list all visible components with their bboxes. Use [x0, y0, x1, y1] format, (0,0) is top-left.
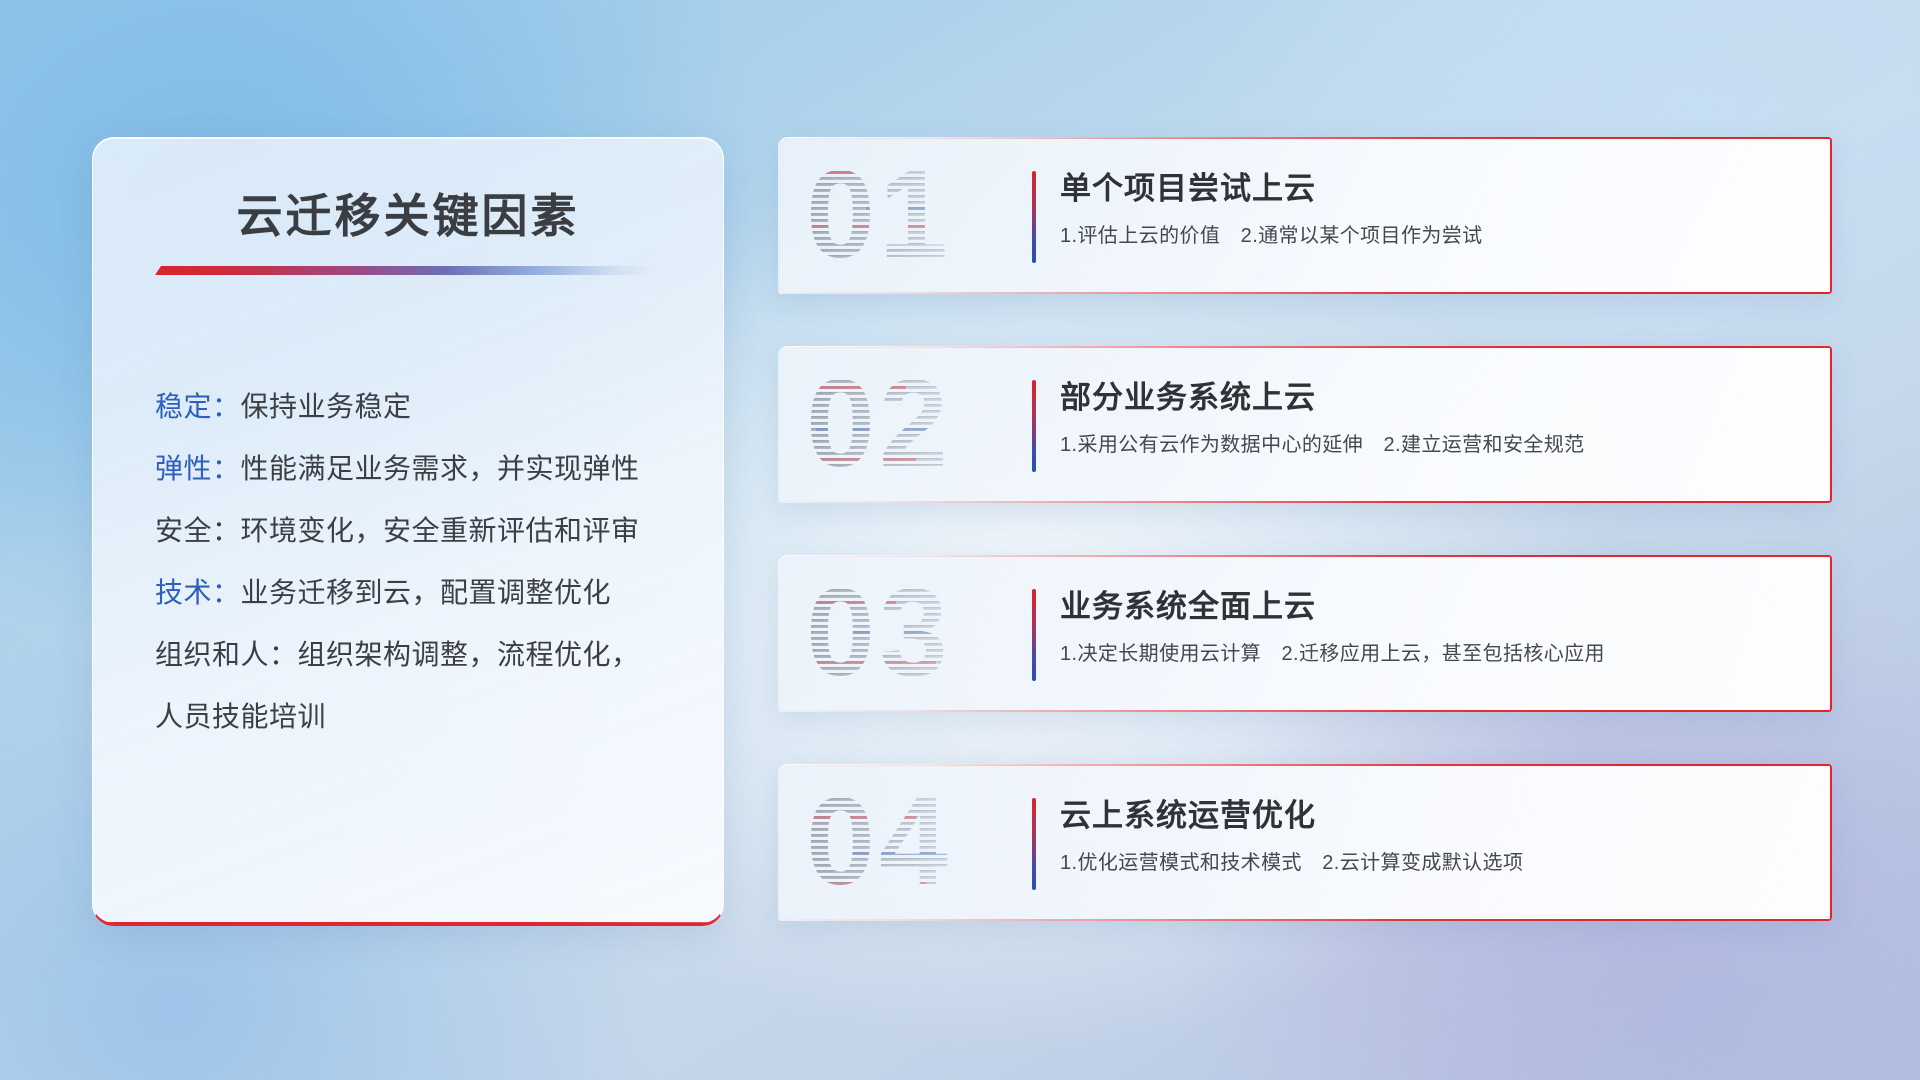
- list-item: 人员技能培训: [155, 686, 689, 748]
- factor-label: 组织和人：: [155, 639, 298, 670]
- card-accent-bar: [1032, 380, 1036, 472]
- factor-text: 组织架构调整，流程优化，: [298, 639, 640, 670]
- card-subtitle: 1.优化运营模式和技术模式 2.云计算变成默认选项: [1060, 848, 1808, 878]
- key-factors-panel: 云迁移关键因素 稳定：保持业务稳定 弹性：性能满足业务需求，并实现弹性 安全：环…: [92, 137, 724, 926]
- factor-text: 保持业务稳定: [241, 391, 412, 422]
- card-text-block: 单个项目尝试上云 1.评估上云的价值 2.通常以某个项目作为尝试: [1060, 167, 1808, 251]
- stage-number-03-icon: 03: [806, 571, 1016, 699]
- card-text-block: 云上系统运营优化 1.优化运营模式和技术模式 2.云计算变成默认选项: [1060, 794, 1808, 878]
- stage-card-01[interactable]: 01: [778, 137, 1832, 294]
- factor-label: 技术：: [155, 577, 241, 608]
- card-title: 业务系统全面上云: [1060, 585, 1808, 629]
- card-accent-bar: [1032, 589, 1036, 681]
- card-accent-bar: [1032, 171, 1036, 263]
- list-item: 稳定：保持业务稳定: [155, 376, 689, 438]
- factor-text: 人员技能培训: [155, 701, 326, 732]
- factor-label: 安全：: [155, 515, 241, 546]
- list-item: 组织和人：组织架构调整，流程优化，: [155, 624, 689, 686]
- stage-number-04-icon: 04: [806, 780, 1016, 908]
- card-text-block: 部分业务系统上云 1.采用公有云作为数据中心的延伸 2.建立运营和安全规范: [1060, 376, 1808, 460]
- title-underline-rule: [155, 266, 655, 275]
- card-subtitle: 1.评估上云的价值 2.通常以某个项目作为尝试: [1060, 221, 1808, 251]
- stage-number-01-icon: 01: [806, 153, 1016, 281]
- card-title: 部分业务系统上云: [1060, 376, 1808, 420]
- card-subtitle: 1.采用公有云作为数据中心的延伸 2.建立运营和安全规范: [1060, 430, 1808, 460]
- factor-text: 性能满足业务需求，并实现弹性: [241, 453, 640, 484]
- list-item: 技术：业务迁移到云，配置调整优化: [155, 562, 689, 624]
- page-title: 云迁移关键因素: [93, 180, 723, 246]
- card-title: 单个项目尝试上云: [1060, 167, 1808, 211]
- stage-card-03[interactable]: 03: [778, 555, 1832, 712]
- list-item: 弹性：性能满足业务需求，并实现弹性: [155, 438, 689, 500]
- slide-stage: 云迁移关键因素 稳定：保持业务稳定 弹性：性能满足业务需求，并实现弹性 安全：环…: [0, 0, 1920, 1080]
- factor-label: 弹性：: [155, 453, 241, 484]
- stage-number-02-icon: 02: [806, 362, 1016, 490]
- card-accent-bar: [1032, 798, 1036, 890]
- card-title: 云上系统运营优化: [1060, 794, 1808, 838]
- stage-card-02[interactable]: 02: [778, 346, 1832, 503]
- factor-text: 业务迁移到云，配置调整优化: [241, 577, 612, 608]
- stage-card-04[interactable]: 04: [778, 764, 1832, 921]
- factor-text: 环境变化，安全重新评估和评审: [241, 515, 640, 546]
- stages-card-list: 01: [778, 137, 1832, 973]
- card-subtitle: 1.决定长期使用云计算 2.迁移应用上云，甚至包括核心应用: [1060, 639, 1808, 669]
- factor-label: 稳定：: [155, 391, 241, 422]
- card-text-block: 业务系统全面上云 1.决定长期使用云计算 2.迁移应用上云，甚至包括核心应用: [1060, 585, 1808, 669]
- list-item: 安全：环境变化，安全重新评估和评审: [155, 500, 689, 562]
- key-factors-list: 稳定：保持业务稳定 弹性：性能满足业务需求，并实现弹性 安全：环境变化，安全重新…: [155, 376, 689, 748]
